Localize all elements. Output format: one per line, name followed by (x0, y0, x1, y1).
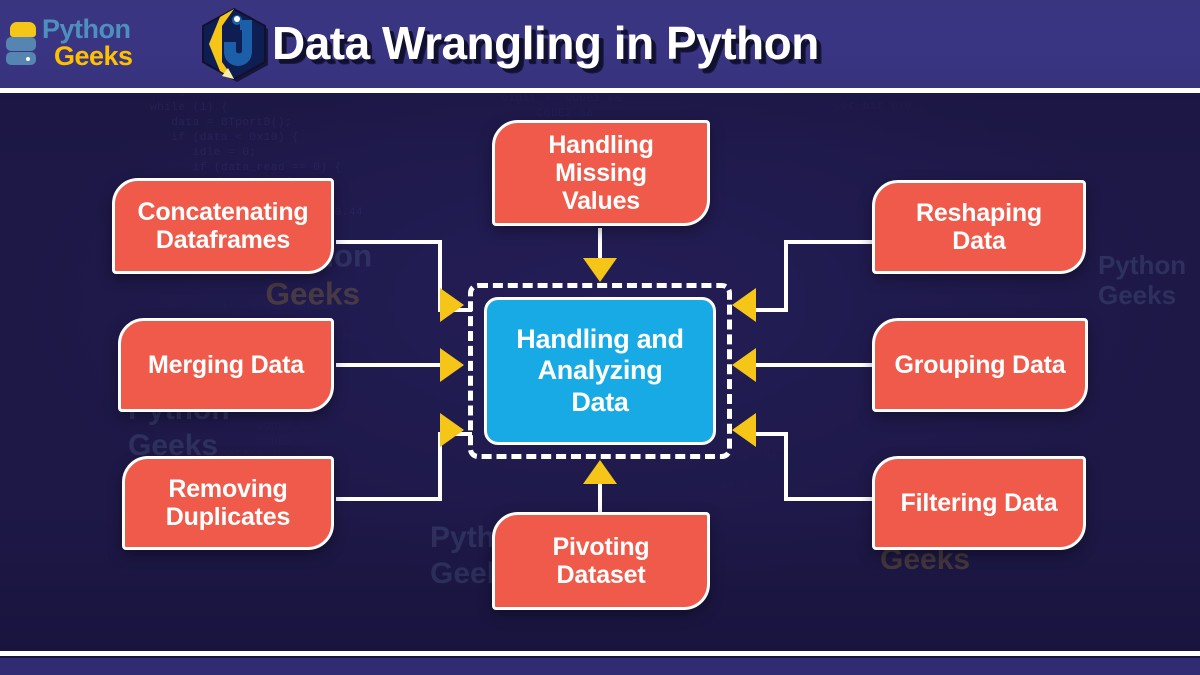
connector-concatenating-h1 (336, 240, 442, 244)
node-removing-duplicates[interactable]: Removing Duplicates (122, 456, 334, 550)
arrow-removing-to-center (440, 413, 464, 447)
connector-reshaping-v (784, 240, 788, 312)
center-node-label: Handling and Analyzing Data (516, 324, 683, 418)
watermark-bottom: Geeks (265, 277, 360, 312)
arrow-concatenating-to-center (440, 288, 464, 322)
node-line-1: Reshaping (916, 199, 1042, 227)
arrow-grouping-to-center (732, 348, 756, 382)
connector-filtering-h2 (752, 432, 788, 436)
node-line-3: Values (562, 187, 640, 215)
node-label: Handling Missing Values (548, 131, 653, 215)
connector-filtering-v (784, 432, 788, 501)
center-line-2: Analyzing (538, 355, 663, 385)
node-reshaping-data[interactable]: Reshaping Data (872, 180, 1086, 274)
connector-merging-h (336, 363, 446, 367)
node-line-2: Dataset (557, 561, 646, 589)
connector-filtering-h1 (784, 497, 874, 501)
node-line-1: Concatenating (137, 198, 308, 226)
watermark: Python Geeks (1098, 250, 1186, 310)
node-line-1: Handling (548, 131, 653, 159)
slide-canvas: nonce Young Sendaca delay_ms idle digits… (0, 0, 1200, 675)
logo-text-geeks: Geeks (54, 43, 133, 70)
logo-text-python: Python (42, 16, 133, 43)
header-divider-shadow (0, 93, 1200, 95)
footer-divider (0, 651, 1200, 656)
node-line-2: Missing (555, 159, 647, 187)
node-grouping-data[interactable]: Grouping Data (872, 318, 1088, 412)
footer-bar (0, 658, 1200, 675)
node-label: Grouping Data (894, 351, 1065, 379)
page-title: Data Wrangling in Python (272, 7, 1172, 79)
logo-eye-dot (26, 57, 30, 61)
node-concatenating-dataframes[interactable]: Concatenating Dataframes (112, 178, 334, 274)
python-geeks-logo[interactable]: Python Geeks (4, 10, 132, 76)
arrow-missing-to-center (583, 258, 617, 282)
node-label: Concatenating Dataframes (137, 198, 308, 254)
watermark-bottom: Geeks (1098, 280, 1176, 310)
node-label: Reshaping Data (916, 199, 1042, 255)
node-line-2: Data (952, 227, 1005, 255)
logo-wordmark: Python Geeks (42, 16, 133, 70)
node-line-1: Pivoting (552, 533, 649, 561)
node-label: Pivoting Dataset (552, 533, 649, 589)
center-line-3: Data (571, 387, 628, 417)
brand-hexagon-icon (196, 6, 272, 82)
connector-removing-h1 (336, 497, 442, 501)
python-logo-icon (4, 20, 38, 66)
center-line-1: Handling and (516, 324, 683, 354)
arrow-merging-to-center (440, 348, 464, 382)
node-label: Filtering Data (901, 489, 1058, 517)
logo-segment-top (10, 22, 36, 37)
watermark-top: Python (1098, 250, 1186, 280)
center-node-handling-analyzing-data[interactable]: Handling and Analyzing Data (484, 297, 716, 445)
node-handling-missing-values[interactable]: Handling Missing Values (492, 120, 710, 226)
logo-segment-middle (6, 37, 36, 51)
node-label: Merging Data (148, 351, 304, 379)
arrow-pivoting-to-center (583, 460, 617, 484)
arrow-filtering-to-center (732, 413, 756, 447)
connector-grouping-h (756, 363, 874, 367)
connector-reshaping-h2 (752, 308, 788, 312)
node-line-2: Dataframes (156, 226, 290, 254)
connector-reshaping-h1 (784, 240, 874, 244)
node-line-2: Duplicates (166, 503, 290, 531)
node-filtering-data[interactable]: Filtering Data (872, 456, 1086, 550)
node-line-1: Removing (168, 475, 287, 503)
node-pivoting-dataset[interactable]: Pivoting Dataset (492, 512, 710, 610)
node-merging-data[interactable]: Merging Data (118, 318, 334, 412)
logo-segment-bottom (6, 52, 36, 65)
arrow-reshaping-to-center (732, 288, 756, 322)
node-label: Removing Duplicates (166, 475, 290, 531)
